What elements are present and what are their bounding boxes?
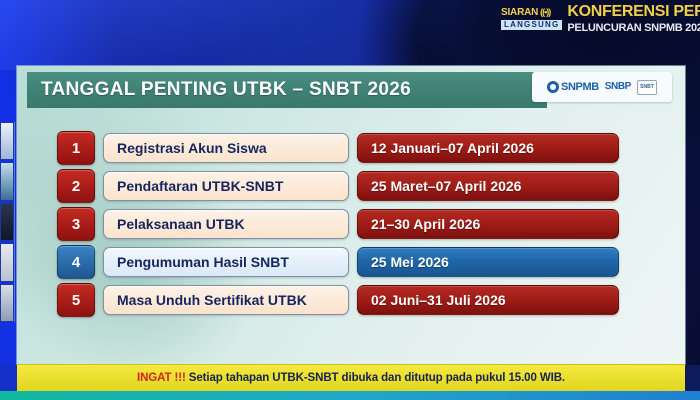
row-activity-label: Pelaksanaan UTBK (103, 209, 349, 239)
footer-note-body: Setiap tahapan UTBK-SNBT dibuka dan ditu… (186, 372, 565, 384)
siaran-row: SIARAN ((•)) (501, 8, 562, 18)
program-subtitle: PELUNCURAN SNPMB 2026 (567, 22, 700, 34)
table-row: 3 Pelaksanaan UTBK 21–30 April 2026 (57, 208, 669, 240)
row-date-value: 25 Maret–07 April 2026 (357, 171, 619, 201)
snpmb-logo-text: SNPMB (561, 82, 599, 93)
note-left-rail (0, 365, 17, 391)
row-number-badge: 1 (57, 131, 95, 165)
row-date-value: 21–30 April 2026 (357, 209, 619, 239)
note-right-rail (685, 365, 700, 391)
snbp-logo-text: SNBP (605, 82, 631, 92)
row-date-value: 02 Juni–31 Juli 2026 (357, 285, 619, 315)
thumbnail-item[interactable] (0, 284, 14, 322)
footer-note-banner: INGAT !!! Setiap tahapan UTBK-SNBT dibuk… (17, 364, 685, 391)
logo-bar: SNPMB SNBP SNBT (532, 72, 672, 102)
siaran-label: SIARAN (501, 8, 538, 18)
table-row: 4 Pengumuman Hasil SNBT 25 Mei 2026 (57, 246, 669, 278)
row-date-value: 25 Mei 2026 (357, 247, 619, 277)
row-activity-label: Pendaftaran UTBK-SNBT (103, 171, 349, 201)
langsung-chip: LANGSUNG (501, 20, 562, 31)
table-row: 5 Masa Unduh Sertifikat UTBK 02 Juni–31 … (57, 284, 669, 316)
footer-note-warning: INGAT !!! (137, 372, 186, 384)
snpmb-seal-icon (547, 81, 559, 93)
thumbnail-item[interactable] (0, 122, 14, 160)
slide-thumbnail-strip[interactable] (0, 122, 15, 322)
table-row: 1 Registrasi Akun Siswa 12 Januari–07 Ap… (57, 132, 669, 164)
broadcast-screenshot: SIARAN ((•)) LANGSUNG KONFERENSI PERS PE… (0, 0, 700, 400)
program-title: KONFERENSI PERS (567, 4, 700, 20)
row-activity-label: Pengumuman Hasil SNBT (103, 247, 349, 277)
snpmb-logo: SNPMB (547, 81, 599, 93)
thumbnail-item[interactable] (0, 162, 14, 200)
schedule-table: 1 Registrasi Akun Siswa 12 Januari–07 Ap… (57, 132, 669, 316)
live-broadcast-banner: SIARAN ((•)) LANGSUNG KONFERENSI PERS PE… (495, 2, 700, 36)
snbt-logo: SNBT (637, 80, 657, 95)
snbp-logo: SNBP (605, 82, 631, 92)
presentation-slide: TANGGAL PENTING UTBK – SNBT 2026 SNPMB S… (17, 66, 685, 396)
table-row: 2 Pendaftaran UTBK-SNBT 25 Maret–07 Apri… (57, 170, 669, 202)
row-number-badge: 3 (57, 207, 95, 241)
thumbnail-item[interactable] (0, 243, 14, 281)
program-title-block: KONFERENSI PERS PELUNCURAN SNPMB 2026 (567, 4, 700, 33)
slide-title: TANGGAL PENTING UTBK – SNBT 2026 (27, 79, 411, 101)
row-activity-label: Registrasi Akun Siswa (103, 133, 349, 163)
live-badge: SIARAN ((•)) LANGSUNG (501, 8, 562, 31)
footer-color-strip (0, 391, 700, 400)
thumbnail-item[interactable] (0, 203, 14, 241)
row-activity-label: Masa Unduh Sertifikat UTBK (103, 285, 349, 315)
row-date-value: 12 Januari–07 April 2026 (357, 133, 619, 163)
slide-title-bar: TANGGAL PENTING UTBK – SNBT 2026 (27, 72, 547, 108)
broadcast-wave-icon: ((•)) (540, 8, 550, 17)
row-number-badge: 4 (57, 245, 95, 279)
row-number-badge: 5 (57, 283, 95, 317)
footer-note-text: INGAT !!! Setiap tahapan UTBK-SNBT dibuk… (137, 372, 565, 384)
row-number-badge: 2 (57, 169, 95, 203)
